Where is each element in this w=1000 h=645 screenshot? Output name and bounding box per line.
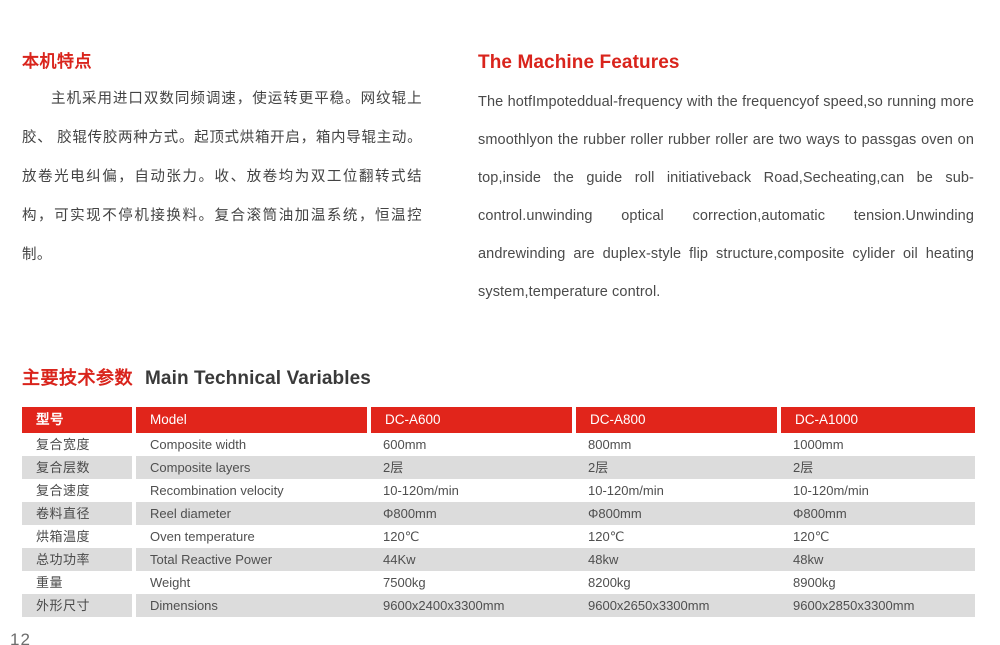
row-value-dc-a600: 600mm	[369, 433, 574, 456]
row-label-cn: 总功功率	[22, 548, 134, 571]
table-row: 复合速度 Recombination velocity 10-120m/min …	[22, 479, 975, 502]
row-value-dc-a1000: 9600x2850x3300mm	[779, 594, 975, 617]
features-chinese-column: 本机特点 主机采用进口双数同频调速，使运转更平稳。网纹辊上胶、 胶辊传胶两种方式…	[22, 52, 422, 275]
row-value-dc-a1000: 1000mm	[779, 433, 975, 456]
features-heading-english: The Machine Features	[478, 52, 974, 74]
table-body: 复合宽度 Composite width 600mm 800mm 1000mm …	[22, 433, 975, 617]
row-label-en: Dimensions	[134, 594, 369, 617]
row-value-dc-a800: 48kw	[574, 548, 779, 571]
row-label-cn: 复合宽度	[22, 433, 134, 456]
page-number: 12	[10, 630, 31, 645]
row-value-dc-a800: 9600x2650x3300mm	[574, 594, 779, 617]
section-title: 主要技术参数Main Technical Variables	[22, 364, 371, 390]
row-value-dc-a1000: 120℃	[779, 525, 975, 548]
row-label-cn: 重量	[22, 571, 134, 594]
features-english-column: The Machine Features The hotfImpoteddual…	[478, 52, 974, 311]
row-value-dc-a600: 10-120m/min	[369, 479, 574, 502]
table-row: 外形尺寸 Dimensions 9600x2400x3300mm 9600x26…	[22, 594, 975, 617]
row-label-en: Composite width	[134, 433, 369, 456]
table-header-cell-dc-a600: DC-A600	[369, 407, 574, 433]
row-label-cn: 外形尺寸	[22, 594, 134, 617]
row-label-cn: 复合层数	[22, 456, 134, 479]
row-value-dc-a600: 120℃	[369, 525, 574, 548]
row-label-cn: 烘箱温度	[22, 525, 134, 548]
section-title-chinese: 主要技术参数	[22, 368, 133, 388]
table-row: 复合层数 Composite layers 2层 2层 2层	[22, 456, 975, 479]
row-value-dc-a800: 2层	[574, 456, 779, 479]
table-header-cell-dc-a1000: DC-A1000	[779, 407, 975, 433]
features-body-english: The hotfImpoteddual-frequency with the f…	[478, 83, 974, 311]
table-row: 烘箱温度 Oven temperature 120℃ 120℃ 120℃	[22, 525, 975, 548]
row-value-dc-a600: 44Kw	[369, 548, 574, 571]
row-label-en: Recombination velocity	[134, 479, 369, 502]
row-value-dc-a1000: 2层	[779, 456, 975, 479]
table-header-cell-model-en: Model	[134, 407, 369, 433]
row-value-dc-a800: 10-120m/min	[574, 479, 779, 502]
row-label-en: Total Reactive Power	[134, 548, 369, 571]
row-label-en: Composite layers	[134, 456, 369, 479]
row-value-dc-a800: Φ800mm	[574, 502, 779, 525]
table-row: 总功功率 Total Reactive Power 44Kw 48kw 48kw	[22, 548, 975, 571]
row-value-dc-a600: 2层	[369, 456, 574, 479]
section-title-english: Main Technical Variables	[145, 368, 371, 389]
row-value-dc-a1000: Φ800mm	[779, 502, 975, 525]
table-header-cell-model-cn: 型号	[22, 407, 134, 433]
row-value-dc-a800: 8200kg	[574, 571, 779, 594]
features-heading-chinese: 本机特点	[22, 52, 422, 72]
table-row: 重量 Weight 7500kg 8200kg 8900kg	[22, 571, 975, 594]
features-section: 本机特点 主机采用进口双数同频调速，使运转更平稳。网纹辊上胶、 胶辊传胶两种方式…	[0, 52, 1000, 322]
features-body-chinese: 主机采用进口双数同频调速，使运转更平稳。网纹辊上胶、 胶辊传胶两种方式。起顶式烘…	[22, 80, 422, 275]
row-label-en: Weight	[134, 571, 369, 594]
row-label-cn: 卷料直径	[22, 502, 134, 525]
table-header-cell-dc-a800: DC-A800	[574, 407, 779, 433]
table-header: 型号 Model DC-A600 DC-A800 DC-A1000	[22, 407, 975, 433]
row-value-dc-a600: 7500kg	[369, 571, 574, 594]
row-value-dc-a600: 9600x2400x3300mm	[369, 594, 574, 617]
table-row: 卷料直径 Reel diameter Φ800mm Φ800mm Φ800mm	[22, 502, 975, 525]
row-value-dc-a1000: 10-120m/min	[779, 479, 975, 502]
row-value-dc-a800: 120℃	[574, 525, 779, 548]
row-value-dc-a600: Φ800mm	[369, 502, 574, 525]
row-value-dc-a1000: 48kw	[779, 548, 975, 571]
table-row: 复合宽度 Composite width 600mm 800mm 1000mm	[22, 433, 975, 456]
table-header-row: 型号 Model DC-A600 DC-A800 DC-A1000	[22, 407, 975, 433]
row-value-dc-a1000: 8900kg	[779, 571, 975, 594]
specifications-table: 型号 Model DC-A600 DC-A800 DC-A1000 复合宽度 C…	[22, 407, 975, 617]
row-label-en: Reel diameter	[134, 502, 369, 525]
row-value-dc-a800: 800mm	[574, 433, 779, 456]
row-label-en: Oven temperature	[134, 525, 369, 548]
row-label-cn: 复合速度	[22, 479, 134, 502]
